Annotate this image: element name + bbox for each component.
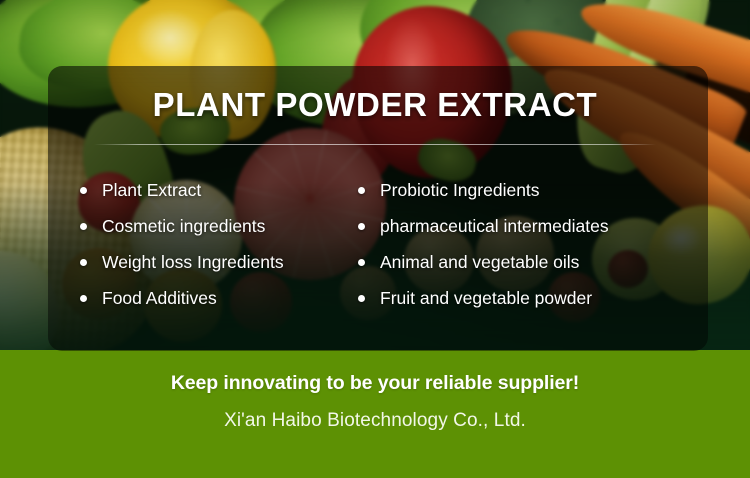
bullet-dot-icon xyxy=(80,187,87,194)
product-banner: PLANT POWDER EXTRACT Plant Extract Cosme… xyxy=(0,0,750,478)
footer-company-name: Xi'an Haibo Biotechnology Co., Ltd. xyxy=(0,410,750,432)
title-divider xyxy=(94,144,656,145)
feature-list-left: Plant Extract Cosmetic ingredients Weigh… xyxy=(76,172,346,316)
list-item: Cosmetic ingredients xyxy=(76,208,346,244)
list-item: Probiotic Ingredients xyxy=(354,172,694,208)
bullet-dot-icon xyxy=(358,295,365,302)
list-item: Food Additives xyxy=(76,280,346,316)
footer-tagline: Keep innovating to be your reliable supp… xyxy=(0,372,750,395)
page-title: PLANT POWDER EXTRACT xyxy=(0,86,750,124)
list-item: Weight loss Ingredients xyxy=(76,244,346,280)
list-item-label: Animal and vegetable oils xyxy=(380,252,579,272)
list-item-label: Food Additives xyxy=(102,288,217,308)
list-item: Plant Extract xyxy=(76,172,346,208)
list-item-label: Weight loss Ingredients xyxy=(102,252,284,272)
list-item-label: Probiotic Ingredients xyxy=(380,180,540,200)
bullet-dot-icon xyxy=(80,295,87,302)
feature-list-right: Probiotic Ingredients pharmaceutical int… xyxy=(354,172,694,316)
list-item: Fruit and vegetable powder xyxy=(354,280,694,316)
bullet-dot-icon xyxy=(80,259,87,266)
feature-lists: Plant Extract Cosmetic ingredients Weigh… xyxy=(0,172,750,316)
list-item-label: pharmaceutical intermediates xyxy=(380,216,609,236)
bullet-dot-icon xyxy=(358,223,365,230)
list-item-label: Plant Extract xyxy=(102,180,201,200)
list-item: Animal and vegetable oils xyxy=(354,244,694,280)
list-item-label: Fruit and vegetable powder xyxy=(380,288,592,308)
bullet-dot-icon xyxy=(358,187,365,194)
list-item-label: Cosmetic ingredients xyxy=(102,216,265,236)
bullet-dot-icon xyxy=(358,259,365,266)
list-item: pharmaceutical intermediates xyxy=(354,208,694,244)
bullet-dot-icon xyxy=(80,223,87,230)
